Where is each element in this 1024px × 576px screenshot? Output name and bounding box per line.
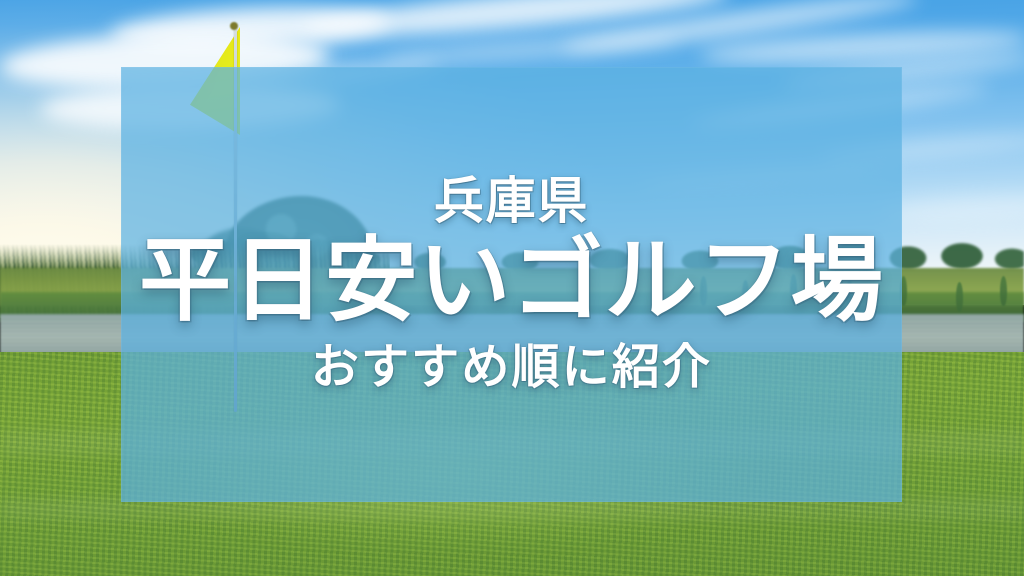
page-subtitle: おすすめ順に紹介 xyxy=(311,342,712,394)
flagpole-tip xyxy=(230,22,238,30)
sapling xyxy=(956,282,963,312)
prefecture-label: 兵庫県 xyxy=(434,175,589,228)
headline-block: 兵庫県 平日安いゴルフ場 おすすめ順に紹介 xyxy=(121,67,902,502)
page-title: 平日安いゴルフ場 xyxy=(139,234,884,328)
banner-image: 兵庫県 平日安いゴルフ場 おすすめ順に紹介 xyxy=(0,0,1024,576)
sapling xyxy=(1000,276,1007,306)
